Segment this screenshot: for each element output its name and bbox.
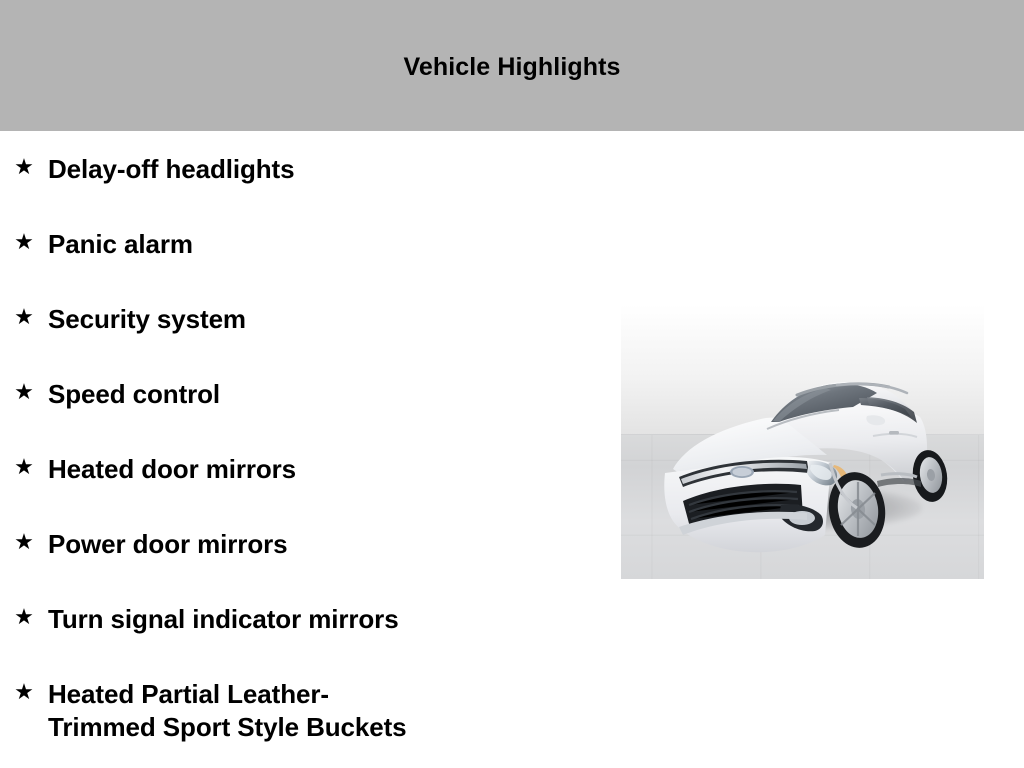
door-handle	[889, 431, 899, 435]
highlight-label: Panic alarm	[48, 206, 600, 261]
list-item: ★ Speed control	[0, 356, 600, 431]
list-item: ★ Power door mirrors	[0, 506, 600, 581]
star-bullet-icon: ★	[12, 381, 36, 403]
star-bullet-icon: ★	[12, 681, 36, 703]
star-bullet-icon: ★	[12, 156, 36, 178]
highlight-label: Delay-off headlights	[48, 131, 600, 186]
list-item: ★ Heated door mirrors	[0, 431, 600, 506]
list-item: ★ Turn signal indicator mirrors	[0, 581, 600, 656]
vehicle-highlights-list: ★ Delay-off headlights ★ Panic alarm ★ S…	[0, 131, 600, 738]
list-item: ★ Security system	[0, 281, 600, 356]
highlight-label: Turn signal indicator mirrors	[48, 581, 600, 636]
header-band: Vehicle Highlights	[0, 0, 1024, 131]
star-bullet-icon: ★	[12, 531, 36, 553]
suv-illustration	[621, 305, 984, 579]
side-skirt	[877, 478, 921, 487]
highlight-label: Power door mirrors	[48, 506, 600, 561]
star-bullet-icon: ★	[12, 306, 36, 328]
page-title: Vehicle Highlights	[0, 52, 1024, 82]
highlight-label: Speed control	[48, 356, 600, 411]
star-bullet-icon: ★	[12, 606, 36, 628]
list-item: ★ Panic alarm	[0, 206, 600, 281]
star-bullet-icon: ★	[12, 456, 36, 478]
list-item: ★ Delay-off headlights	[0, 131, 600, 206]
highlight-label: Heated Partial Leather- Trimmed Sport St…	[48, 656, 600, 744]
highlight-label: Heated door mirrors	[48, 431, 600, 486]
highlight-label: Security system	[48, 281, 600, 336]
star-bullet-icon: ★	[12, 231, 36, 253]
vehicle-photo	[621, 305, 984, 579]
list-item: ★ Heated Partial Leather- Trimmed Sport …	[0, 656, 600, 738]
